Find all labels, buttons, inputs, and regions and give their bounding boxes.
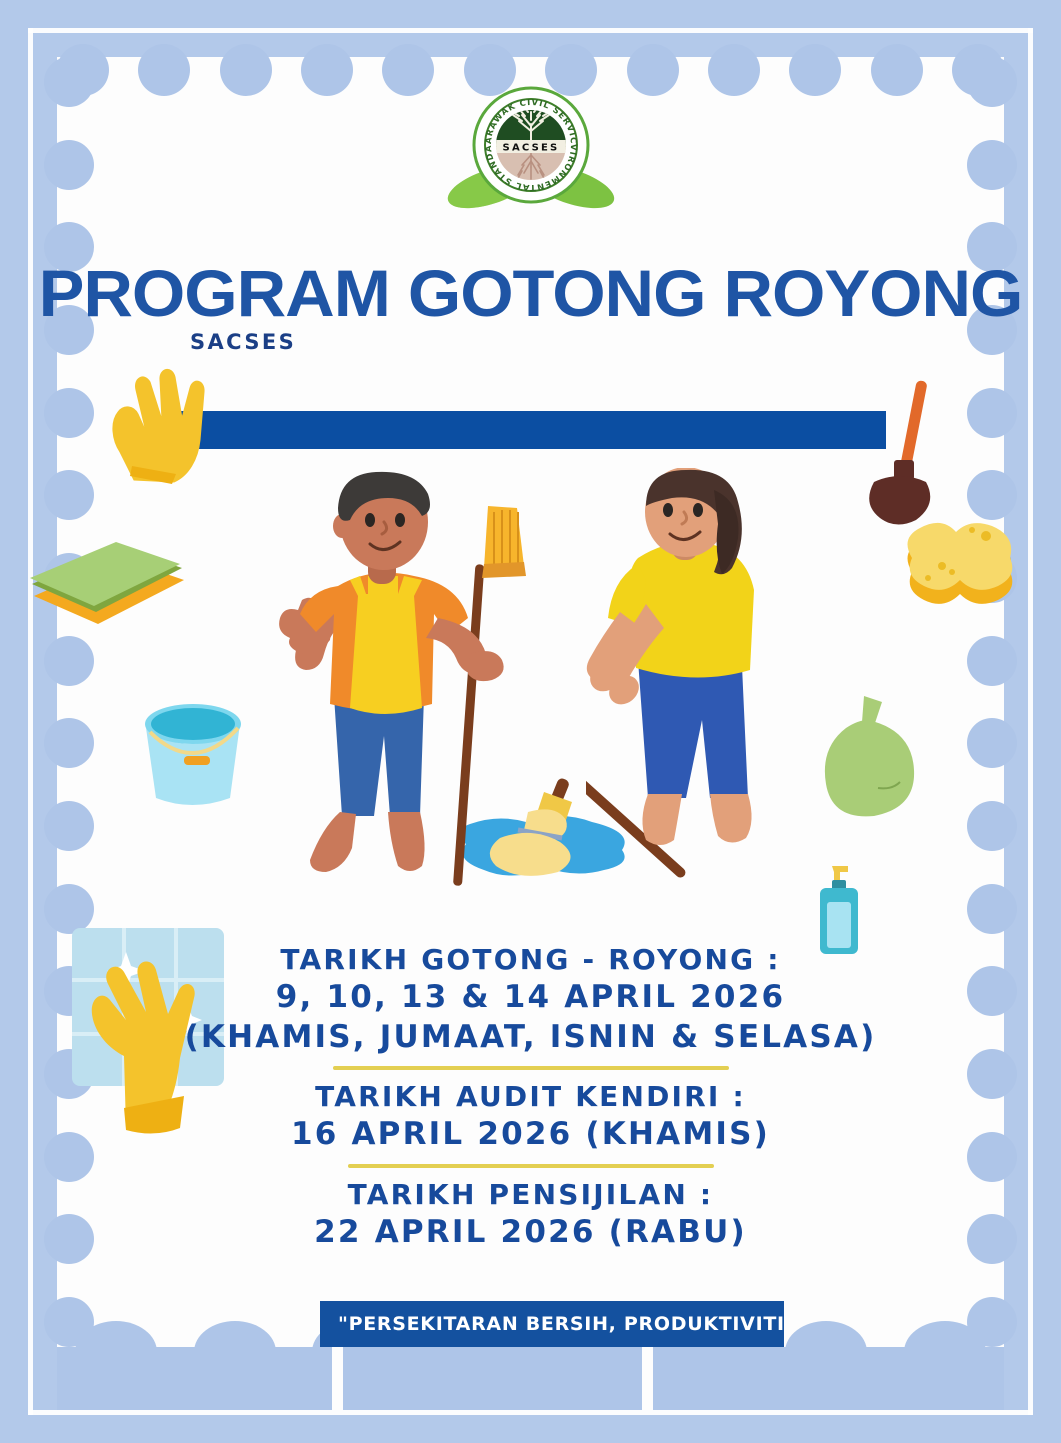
scallop-bump	[44, 57, 94, 107]
slogan-banner: "PERSEKITARAN BERSIH, PRODUKTIVITI MENIN…	[320, 1301, 784, 1347]
pensijilan-label: TARIKH PENSIJILAN :	[0, 1177, 1061, 1213]
scallop-bump	[44, 140, 94, 190]
scallop-bump	[967, 884, 1017, 934]
bottom-scallop-band	[57, 1347, 1004, 1410]
scallop-bump	[967, 801, 1017, 851]
scallop-bump	[789, 44, 841, 96]
scallop-bump	[967, 140, 1017, 190]
scallop-bump	[967, 388, 1017, 438]
scallop-bump	[967, 636, 1017, 686]
scallop-bump	[75, 1321, 157, 1383]
page-title: PROGRAM GOTONG ROYONG	[0, 255, 1061, 331]
green-sponge-left	[24, 538, 192, 634]
scallop-bump	[44, 636, 94, 686]
audit-date: 16 APRIL 2026 (KHAMIS)	[0, 1115, 1061, 1155]
mop-head	[470, 776, 620, 886]
gotong-royong-days: (KHAMIS, JUMAAT, ISNIN & SELASA)	[0, 1018, 1061, 1058]
scallop-bump	[44, 801, 94, 851]
gotong-royong-date: 9, 10, 13 & 14 APRIL 2026	[0, 978, 1061, 1018]
audit-label: TARIKH AUDIT KENDIRI :	[0, 1079, 1061, 1115]
scallop-bump	[44, 388, 94, 438]
scallop-bump	[301, 44, 353, 96]
scallop-bump	[44, 884, 94, 934]
gotong-royong-label: TARIKH GOTONG - ROYONG :	[0, 942, 1061, 978]
yellow-sponge-right	[898, 500, 1028, 608]
yellow-gloves-top-left	[96, 356, 216, 486]
scallop-bump	[785, 1321, 867, 1383]
date-divider-rule-2	[348, 1164, 714, 1168]
blue-divider-bar	[181, 411, 886, 449]
scallop-bump	[194, 1321, 276, 1383]
sacses-logo: SARAWAK CIVIL SERVICE ENVIRONMENTAL STAN…	[418, 83, 644, 215]
green-trash-bag	[816, 692, 926, 822]
scallop-bump	[138, 44, 190, 96]
scallop-bump	[967, 57, 1017, 107]
dates-block: TARIKH GOTONG - ROYONG : 9, 10, 13 & 14 …	[0, 942, 1061, 1252]
poster-canvas: SARAWAK CIVIL SERVICE ENVIRONMENTAL STAN…	[0, 0, 1061, 1443]
scallop-bump	[708, 44, 760, 96]
scallop-bump	[220, 44, 272, 96]
blue-bucket	[134, 700, 254, 812]
date-divider-rule-1	[333, 1066, 729, 1070]
scallop-bump	[904, 1321, 986, 1383]
border-inset-line-bottom	[28, 1410, 1033, 1415]
scallop-bump	[44, 470, 94, 520]
logo-center-text: SACSES	[502, 143, 559, 154]
scallop-bump	[871, 44, 923, 96]
scallop-bump	[44, 718, 94, 768]
scallop-bump	[967, 718, 1017, 768]
page-subtitle: SACSES	[190, 330, 296, 354]
border-inset-line-top	[28, 28, 1033, 33]
pensijilan-date: 22 APRIL 2026 (RABU)	[0, 1213, 1061, 1253]
slogan-text: "PERSEKITARAN BERSIH, PRODUKTIVITI MENIN…	[320, 1313, 784, 1335]
